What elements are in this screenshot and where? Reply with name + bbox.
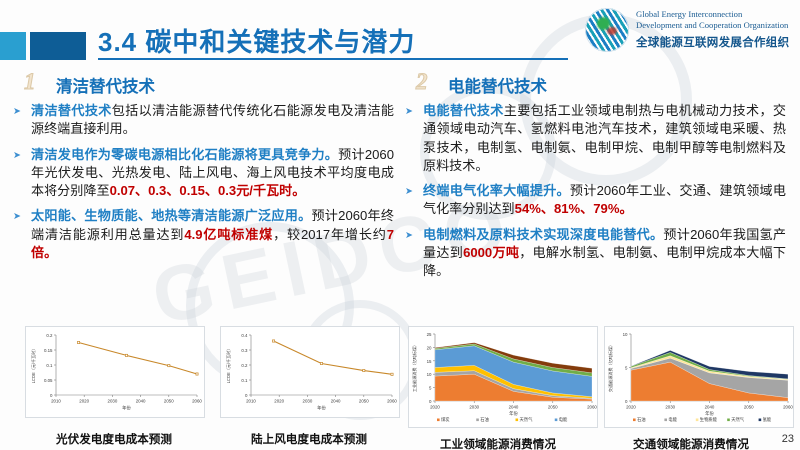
list-item: 清洁替代技术包括以清洁能源替代传统化石能源发电及清洁能源终端直接利用。 <box>12 102 394 139</box>
svg-text:年份: 年份 <box>122 405 131 412</box>
svg-text:0: 0 <box>429 399 432 404</box>
svg-text:0.1: 0.1 <box>241 378 248 383</box>
svg-text:0.05: 0.05 <box>44 378 53 383</box>
svg-text:生物质能: 生物质能 <box>700 416 718 423</box>
svg-text:0.1: 0.1 <box>46 363 53 368</box>
svg-text:0: 0 <box>625 399 628 404</box>
svg-text:LCOE（元/千瓦时）: LCOE（元/千瓦时） <box>225 347 231 384</box>
right-column: 2 电能替代技术 电能替代技术主要包括工业领域电制热与电机械动力技术，交通领域电… <box>404 72 786 288</box>
bullet-lead: 电制燃料及原料技术实现深度电能替代。 <box>423 227 663 242</box>
svg-text:2030: 2030 <box>303 399 313 404</box>
svg-text:2040: 2040 <box>705 405 715 410</box>
svg-text:2020: 2020 <box>430 405 440 410</box>
svg-text:电能: 电能 <box>559 416 568 423</box>
svg-text:天然气: 天然气 <box>520 416 534 423</box>
chart-industry-energy: 051015202520202030204020502060年份工业能源消费（亿… <box>408 326 598 428</box>
right-section-title: 电能替代技术 <box>448 73 547 97</box>
page-number: 23 <box>782 433 794 445</box>
chart-svg: 00.10.20.30.4201020202030204020502060年份L… <box>221 327 399 417</box>
right-section-header: 2 电能替代技术 <box>404 72 786 100</box>
svg-text:0.4: 0.4 <box>241 333 248 338</box>
svg-text:0.15: 0.15 <box>44 348 53 353</box>
section-number-1: 1 <box>24 69 36 95</box>
section-number-2: 2 <box>416 69 428 95</box>
page-title: 3.4 碳中和关键技术与潜力 <box>98 22 415 59</box>
header-underline <box>98 58 568 60</box>
bullet-emphasis: 6000万吨 <box>463 245 519 260</box>
svg-text:2060: 2060 <box>192 399 202 404</box>
svg-text:5: 5 <box>429 386 432 391</box>
bullet-lead: 电能替代技术 <box>423 103 504 118</box>
svg-text:2020: 2020 <box>626 405 636 410</box>
left-column: 1 清洁替代技术 清洁替代技术包括以清洁能源替代传统化石能源发电及清洁能源终端直… <box>12 72 394 269</box>
svg-text:0.2: 0.2 <box>46 333 53 338</box>
chart-svg: 00.050.10.150.2201020202030204020502060年… <box>26 327 204 417</box>
svg-text:2050: 2050 <box>548 405 558 410</box>
svg-text:电能: 电能 <box>668 416 677 423</box>
svg-text:天然气: 天然气 <box>731 416 745 423</box>
chart-caption-2: 陆上风电度电成本预测 <box>220 431 398 447</box>
svg-text:0.2: 0.2 <box>241 363 248 368</box>
bullet-lead: 太阳能、生物质能、地热等清洁能源广泛应用。 <box>31 208 311 223</box>
slide-header: 3.4 碳中和关键技术与潜力 Global Energy Interconnec… <box>0 0 800 62</box>
logo-en-line1: Global Energy Interconnection <box>636 9 794 20</box>
chart-caption-1: 光伏发电度电成本预测 <box>25 431 203 447</box>
svg-text:煤炭: 煤炭 <box>441 416 450 423</box>
svg-text:0.3: 0.3 <box>241 348 248 353</box>
chart-caption-4: 交通领域能源消费情况 <box>596 436 786 450</box>
logo-en-line2: Development and Cooperation Organization <box>636 20 794 31</box>
bullet-lead: 终端电气化率大幅提升。 <box>423 183 570 198</box>
svg-text:10: 10 <box>427 372 432 377</box>
svg-text:0: 0 <box>245 393 248 398</box>
svg-text:20: 20 <box>427 345 432 350</box>
header-square-light <box>0 32 26 60</box>
header-square-dark <box>30 32 86 60</box>
svg-text:石油: 石油 <box>637 416 646 423</box>
svg-text:10: 10 <box>623 332 628 337</box>
svg-text:2040: 2040 <box>136 399 146 404</box>
bullet-emphasis: 4.9亿吨标准煤 <box>184 227 273 242</box>
list-item: 太阳能、生物质能、地热等清洁能源广泛应用。预计2060年终端清洁能源利用总量达到… <box>12 207 394 262</box>
svg-text:交通能源消费（亿吨标煤）: 交通能源消费（亿吨标煤） <box>607 343 613 392</box>
svg-text:2020: 2020 <box>274 399 284 404</box>
svg-text:2050: 2050 <box>359 399 369 404</box>
list-item: 电能替代技术主要包括工业领域电制热与电机械动力技术，交通领域电动汽车、氢燃料电池… <box>404 102 786 175</box>
svg-text:石油: 石油 <box>480 416 489 423</box>
svg-text:25: 25 <box>427 332 432 337</box>
svg-text:0: 0 <box>50 393 53 398</box>
svg-text:2040: 2040 <box>331 399 341 404</box>
left-section-header: 1 清洁替代技术 <box>12 72 394 100</box>
logo-chinese-text: 全球能源互联网发展合作组织 <box>636 34 789 50</box>
charts-row: 00.050.10.150.2201020202030204020502060年… <box>0 326 800 450</box>
svg-text:2020: 2020 <box>79 399 89 404</box>
bullet-emphasis: 54%、81%、79%。 <box>515 201 633 216</box>
list-item: 终端电气化率大幅提升。预计2060年工业、交通、建筑领域电气化率分别达到54%、… <box>404 182 786 219</box>
svg-text:LCOE（元/千瓦时）: LCOE（元/千瓦时） <box>30 347 36 384</box>
svg-text:2060: 2060 <box>587 405 597 410</box>
svg-text:2040: 2040 <box>509 405 519 410</box>
bullet-lead: 清洁替代技术 <box>31 103 112 118</box>
svg-text:2050: 2050 <box>164 399 174 404</box>
bullet-body-2: ，较2017年增长约 <box>273 227 387 242</box>
bullet-emphasis: 0.07、0.3、0.15、0.3元/千瓦时。 <box>110 183 306 198</box>
bullet-lead: 清洁发电作为零碳电源相比化石能源将更具竞争力。 <box>31 147 338 162</box>
svg-text:2060: 2060 <box>387 399 397 404</box>
svg-text:氢能: 氢能 <box>763 416 772 423</box>
organization-logo: Global Energy Interconnection Developmen… <box>585 6 795 54</box>
svg-text:2010: 2010 <box>246 399 256 404</box>
globe-icon <box>585 8 629 52</box>
svg-text:2060: 2060 <box>783 405 793 410</box>
svg-text:15: 15 <box>427 359 432 364</box>
chart-pv-lcoe: 00.050.10.150.2201020202030204020502060年… <box>25 326 205 418</box>
svg-text:2030: 2030 <box>469 405 479 410</box>
svg-text:2010: 2010 <box>51 399 61 404</box>
svg-text:年份: 年份 <box>509 410 518 417</box>
svg-text:2030: 2030 <box>108 399 118 404</box>
slide: GEIDCO 3.4 碳中和关键技术与潜力 Global Energy Inte… <box>0 0 800 450</box>
svg-text:工业能源消费（亿吨标煤）: 工业能源消费（亿吨标煤） <box>411 343 417 392</box>
list-item: 电制燃料及原料技术实现深度电能替代。预计2060年我国氢产量达到6000万吨，电… <box>404 226 786 281</box>
svg-text:年份: 年份 <box>317 405 326 412</box>
chart-onshore-wind-lcoe: 00.10.20.30.4201020202030204020502060年份L… <box>220 326 400 418</box>
svg-text:2030: 2030 <box>665 405 675 410</box>
list-item: 清洁发电作为零碳电源相比化石能源将更具竞争力。预计2060年光伏发电、光热发电、… <box>12 146 394 201</box>
chart-svg: 051015202520202030204020502060年份工业能源消费（亿… <box>409 327 597 427</box>
svg-text:5: 5 <box>625 366 628 371</box>
chart-transport-energy: 051020202030204020502060年份交通能源消费（亿吨标煤）石油… <box>604 326 794 428</box>
chart-caption-3: 工业领域能源消费情况 <box>398 436 598 450</box>
chart-svg: 051020202030204020502060年份交通能源消费（亿吨标煤）石油… <box>605 327 793 427</box>
svg-text:2050: 2050 <box>744 405 754 410</box>
left-section-title: 清洁替代技术 <box>56 73 155 97</box>
logo-english-text: Global Energy Interconnection Developmen… <box>636 9 794 31</box>
